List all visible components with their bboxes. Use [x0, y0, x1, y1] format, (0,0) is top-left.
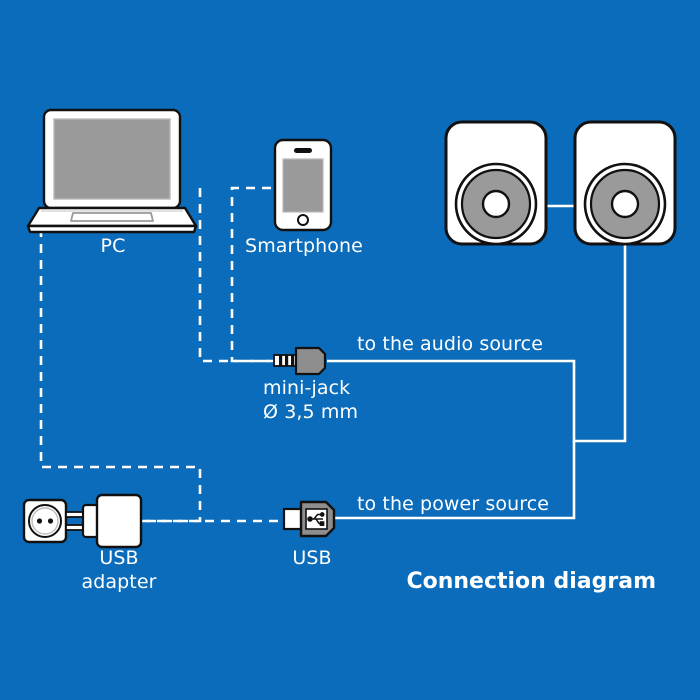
minijack-ring-2 — [285, 355, 288, 366]
label-usb-adapter-line2: adapter — [81, 570, 156, 594]
smartphone-icon — [275, 140, 331, 230]
dashed-path-pc-to-minijack — [200, 188, 276, 361]
label-usb: USB — [292, 546, 331, 570]
adapter-prong-bottom — [66, 525, 84, 530]
speaker-icon-right — [575, 122, 675, 244]
label-usb-adapter-line1: USB — [99, 546, 138, 570]
phone-earpiece-speaker — [294, 148, 312, 153]
adapter-prong-top — [66, 512, 84, 517]
laptop-icon — [28, 110, 196, 232]
adapter-body — [97, 495, 141, 547]
label-pc: PC — [101, 234, 126, 258]
solid-cable-lines — [327, 206, 625, 518]
speaker-left-dustcap — [483, 191, 509, 217]
dashed-path-pc-to-adapter — [41, 228, 200, 521]
power-outlet-icon — [24, 500, 66, 542]
minijack-plug-icon — [274, 348, 325, 374]
usb-plug-icon — [284, 502, 334, 536]
outlet-recess-inner — [32, 508, 58, 534]
label-minijack-line1: mini-jack — [263, 376, 350, 400]
speaker-right-dustcap — [612, 191, 638, 217]
minijack-ring-3 — [291, 355, 294, 366]
laptop-front-lip — [28, 226, 196, 232]
label-minijack-diameter: Ø 3,5 mm — [263, 400, 358, 424]
outlet-hole-right — [48, 518, 53, 523]
power-adapter-icon — [66, 495, 141, 547]
page-title: Connection diagram — [406, 569, 656, 594]
label-audio-cable: to the audio source — [357, 332, 543, 356]
minijack-ring-1 — [279, 355, 282, 366]
laptop-screen — [54, 119, 170, 199]
phone-screen — [283, 159, 323, 212]
usb-metal-tip — [284, 509, 302, 529]
outlet-hole-left — [37, 518, 42, 523]
connection-diagram-canvas: PC Smartphone USB adapter mini-jack Ø 3,… — [0, 0, 700, 700]
minijack-body — [296, 348, 325, 374]
laptop-touchpad — [71, 213, 153, 221]
label-smartphone: Smartphone — [245, 234, 363, 258]
speaker-icon-left — [446, 122, 546, 244]
diagram-illustration — [0, 0, 700, 700]
phone-home-button — [298, 215, 308, 225]
label-power-cable: to the power source — [357, 492, 549, 516]
